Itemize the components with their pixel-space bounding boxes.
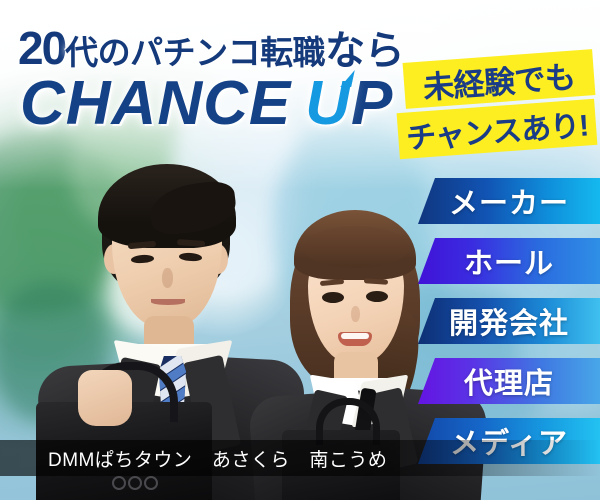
headline-number: 20 (18, 22, 65, 74)
caption-bar: DMMぱちタウン あさくら 南こうめ (0, 440, 600, 476)
logo-letter-u: U (305, 68, 351, 139)
chance-up-logo: CHANCEUP (20, 68, 393, 139)
caption-text: DMMぱちタウン あさくら 南こうめ (0, 445, 387, 472)
headline-tail: なら (325, 29, 404, 73)
badge-line-2-label: チャンスあり! (405, 100, 590, 157)
category-button-agency[interactable]: 代理店 (418, 358, 600, 404)
category-label-development-company: 開発会社 (449, 300, 569, 342)
category-label-maker: メーカー (449, 180, 569, 222)
badge-line-2: チャンスあり! (397, 99, 598, 159)
logo-word-chance: CHANCE (20, 69, 291, 138)
recruitment-banner: 20代のパチンコ転職なら CHANCEUP 未経験でも チャンスあり! メーカー… (0, 0, 600, 500)
category-label-agency: 代理店 (464, 360, 554, 402)
hand-holding-bag (78, 370, 132, 426)
category-label-hall: ホール (464, 240, 554, 282)
category-button-maker[interactable]: メーカー (418, 178, 600, 224)
headline-middle: 代のパチンコ転職 (65, 34, 325, 71)
category-button-development-company[interactable]: 開発会社 (418, 298, 600, 344)
logo-letter-p: P (351, 69, 393, 138)
category-list: メーカー ホール 開発会社 代理店 メディア (418, 178, 600, 478)
inexperienced-welcome-badge: 未経験でも チャンスあり! (398, 52, 598, 162)
category-button-hall[interactable]: ホール (418, 238, 600, 284)
badge-line-1-label: 未経験でも (421, 51, 576, 107)
